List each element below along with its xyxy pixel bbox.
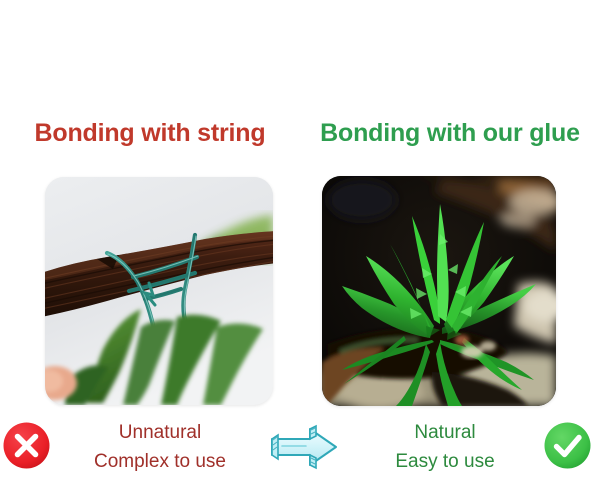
product-comparison-graphic: Bonding with string Bonding with our glu… <box>0 0 600 485</box>
verdict-left-line-2: Complex to use <box>45 447 275 476</box>
heading-bonding-with-our-glue: Bonding with our glue <box>300 112 600 154</box>
photo-card-glue-method <box>322 176 556 406</box>
verdict-right-line-2: Easy to use <box>330 447 560 476</box>
verdict-right-line-1: Natural <box>330 418 560 447</box>
cross-circle-icon <box>2 421 51 470</box>
headings-row: Bonding with string Bonding with our glu… <box>0 112 600 154</box>
heading-bonding-with-string: Bonding with string <box>0 112 300 154</box>
verdict-left-line-1: Unnatural <box>45 418 275 447</box>
verdict-left: Unnatural Complex to use <box>45 418 275 476</box>
photo-card-string-method <box>45 177 273 405</box>
arrow-right-icon <box>268 424 340 470</box>
photo-plant-bonded-naturally <box>322 176 556 406</box>
verdict-right: Natural Easy to use <box>330 418 560 476</box>
check-circle-icon <box>543 421 592 470</box>
photo-driftwood-with-string <box>45 177 273 405</box>
